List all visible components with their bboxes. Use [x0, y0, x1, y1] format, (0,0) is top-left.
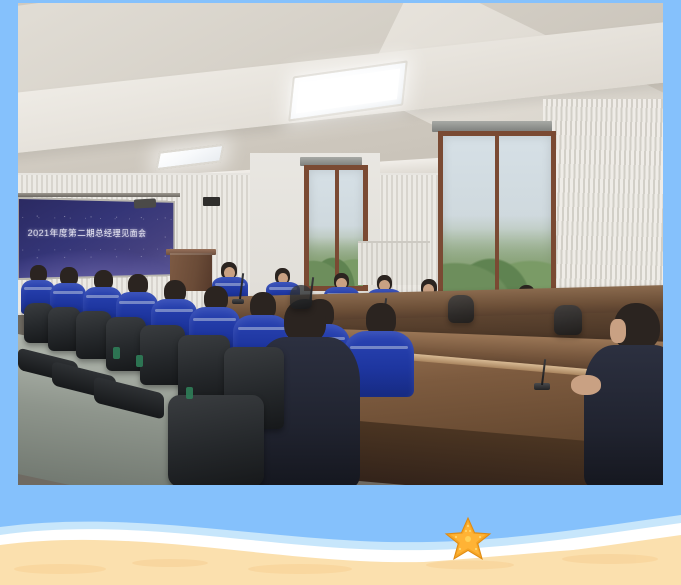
page-root: 2021年度第二期总经理见面会 — [0, 0, 681, 585]
chair-accent — [186, 387, 193, 399]
beach-footer-decoration — [0, 485, 681, 585]
chair-accent — [136, 355, 143, 367]
meeting-photo: 2021年度第二期总经理见面会 — [18, 3, 663, 487]
chair-far — [290, 285, 312, 309]
chair-accent — [113, 347, 120, 359]
chair-foreground — [168, 395, 264, 487]
chair-far — [448, 295, 474, 323]
radiator — [358, 241, 430, 285]
projector-screen-title: 2021年度第二期总经理见面会 — [28, 226, 147, 239]
microphone-back-1 — [232, 299, 244, 304]
projector-device — [134, 198, 156, 208]
projector-screen-rail — [18, 193, 180, 197]
window-right — [438, 131, 556, 306]
wall-speaker — [203, 197, 220, 206]
microphone-front-2 — [534, 383, 550, 390]
photo-canvas: 2021年度第二期总经理见面会 — [18, 3, 663, 487]
face — [610, 319, 626, 343]
hands — [571, 375, 601, 395]
torso — [584, 345, 663, 487]
chair-far — [554, 305, 582, 335]
